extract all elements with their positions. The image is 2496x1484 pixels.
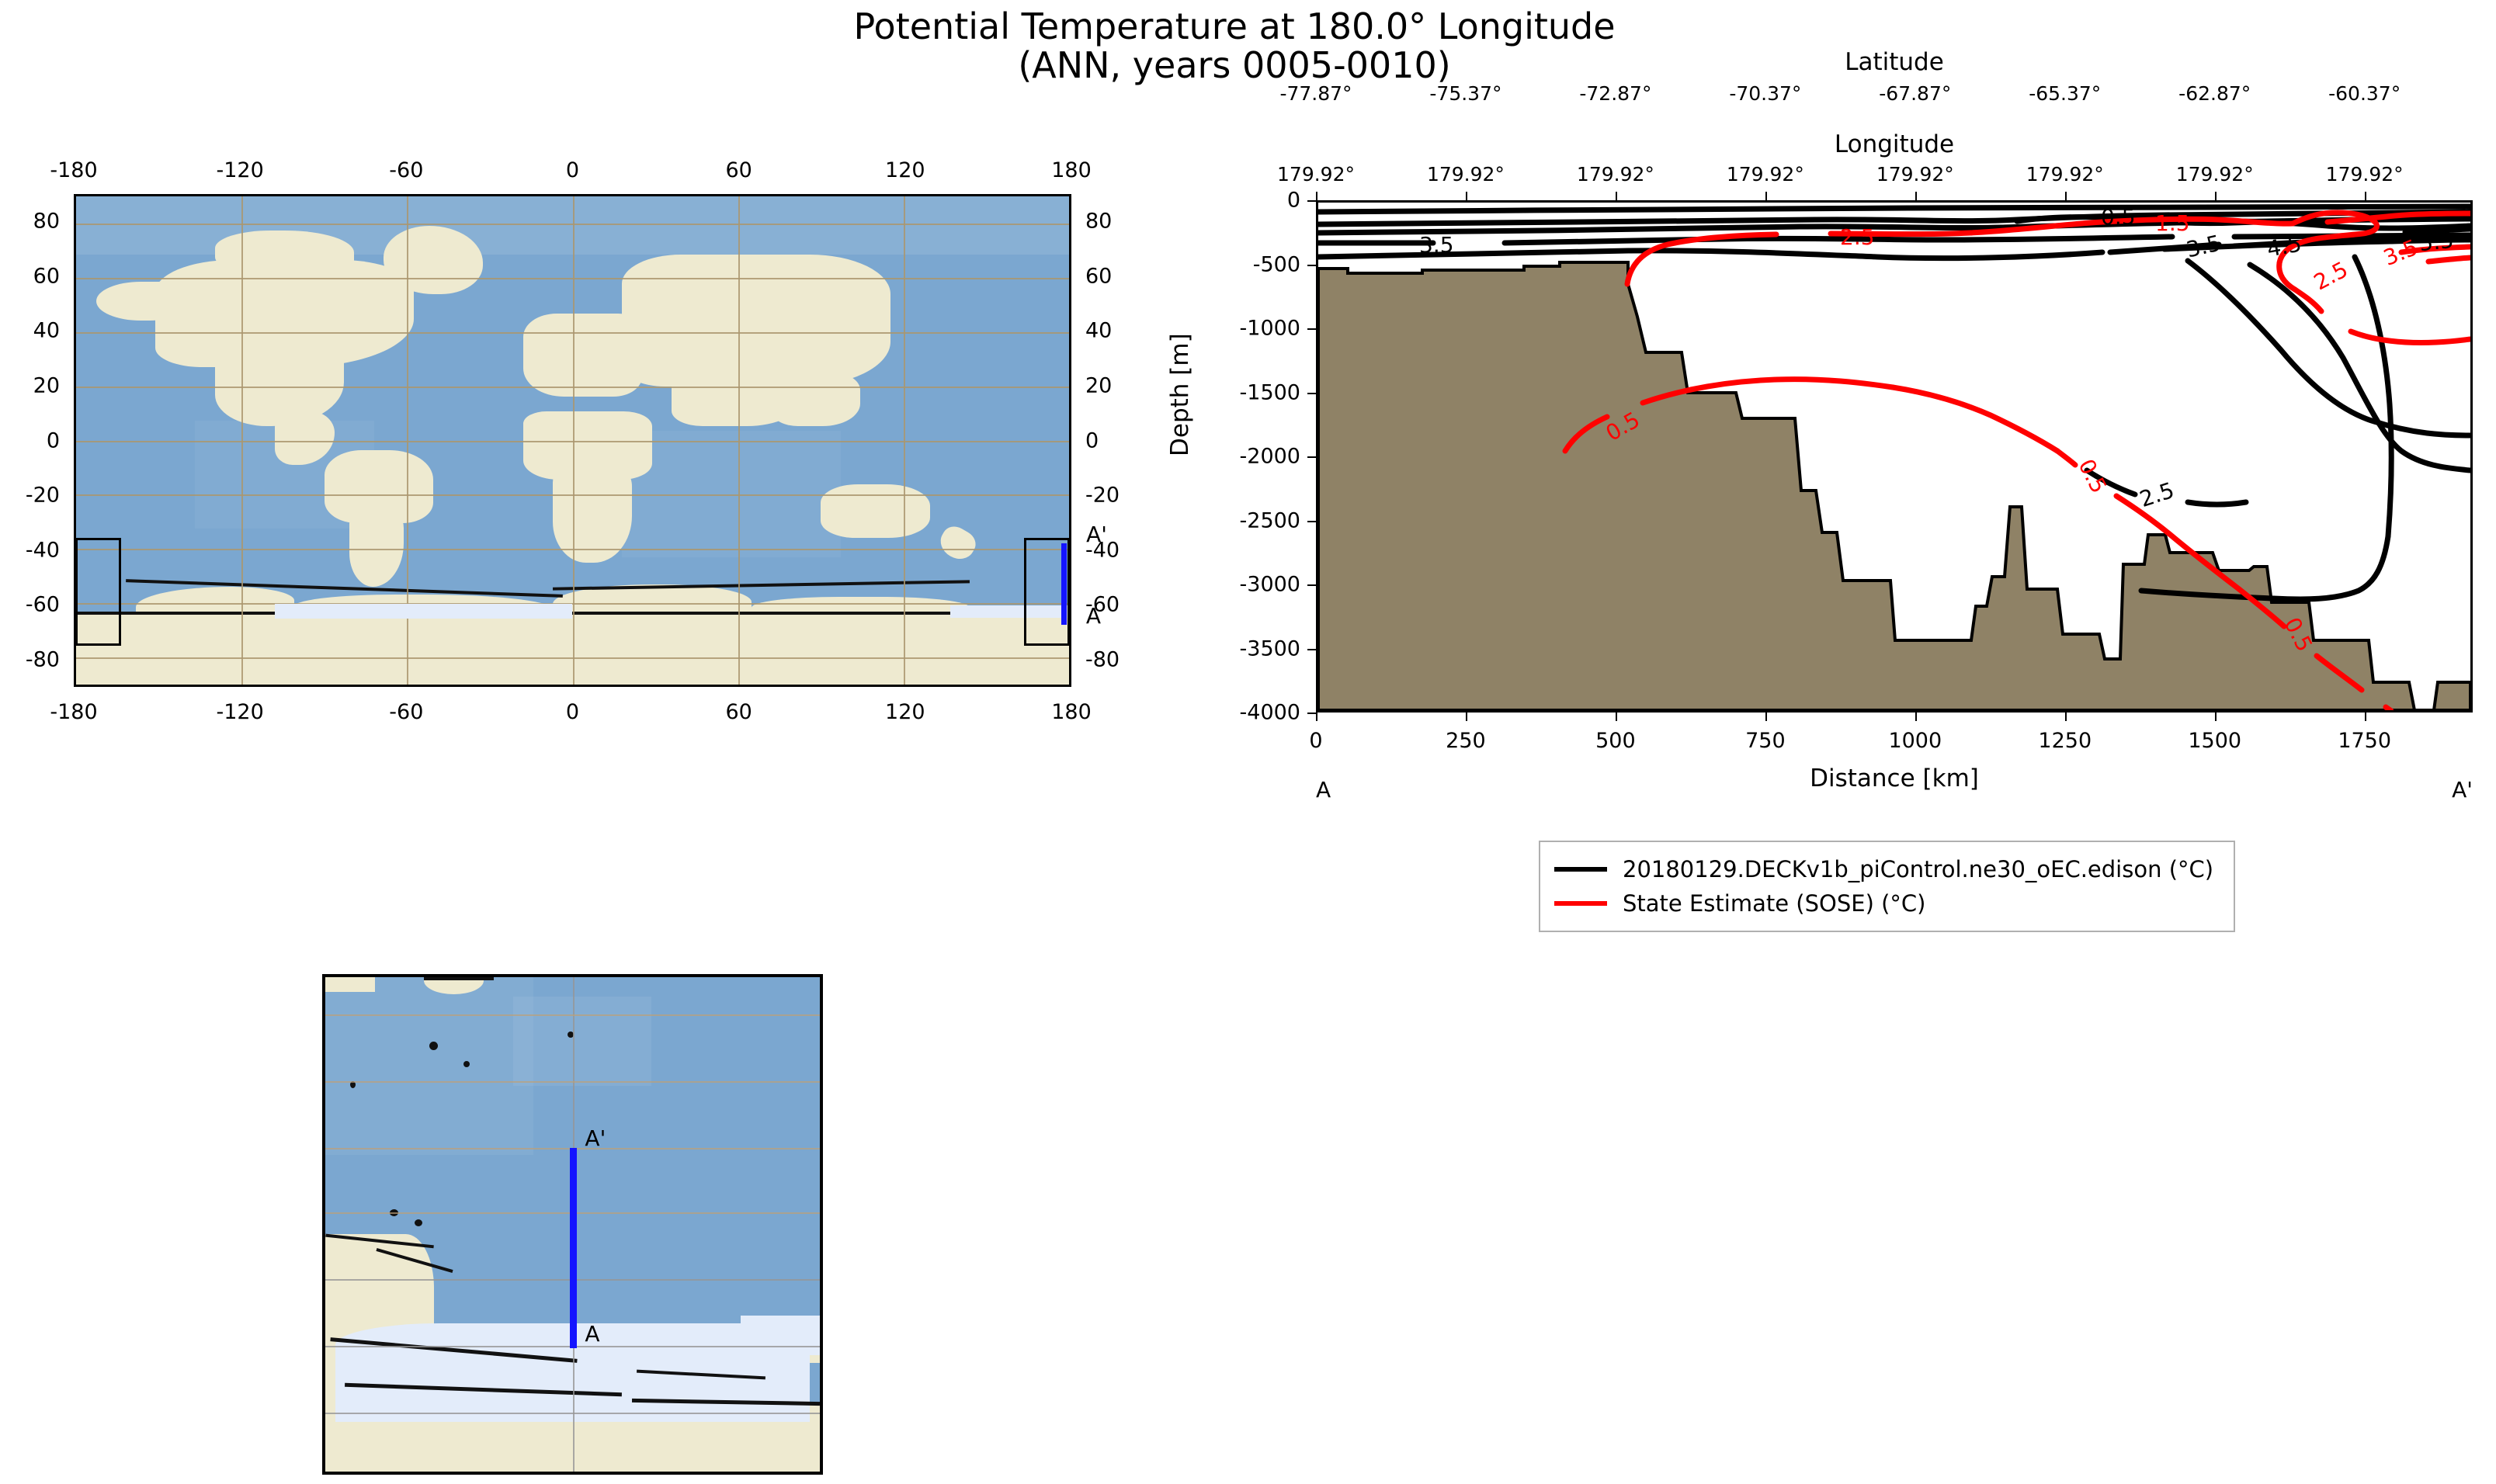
world-map-transect-start-label: A <box>1086 603 1101 629</box>
world-map-xtick-bottom: -60 <box>389 700 423 724</box>
legend-label-model: 20180129.DECKv1b_piControl.ne30_oEC.edis… <box>1623 856 2213 882</box>
title-line-1: Potential Temperature at 180.0° Longitud… <box>745 8 1724 47</box>
landmass-new-zealand <box>935 522 980 564</box>
depth-tick: -2500 <box>1240 508 1300 532</box>
landmass-alaska <box>96 282 186 321</box>
longitude-tick: 179.92° <box>2326 163 2404 185</box>
world-map-xtick-bottom: 120 <box>885 700 925 724</box>
distance-tick: 0 <box>1309 729 1322 753</box>
latitude-tick: -70.37° <box>1729 82 1801 105</box>
distance-tick: 750 <box>1745 729 1786 753</box>
landmass-australia <box>821 484 930 538</box>
world-map-xtick-top: 60 <box>725 158 752 182</box>
cross-section-axes[interactable]: 3.5 2.5 0.5 1.5 3.5 4.5 2.5 3.5 5.5 2.5 … <box>1316 200 2473 713</box>
distance-tick: 250 <box>1446 729 1486 753</box>
world-map-ytick-right: 20 <box>1085 373 1112 397</box>
inset-island <box>415 1219 422 1226</box>
transect-line <box>1061 543 1067 625</box>
world-map-panel: -180 -120 -60 0 60 120 180 -180 -120 -60… <box>74 194 1071 687</box>
latitude-tick: -75.37° <box>1429 82 1501 105</box>
world-map-xtick-top: 0 <box>566 158 579 182</box>
landmass-southeast-asia <box>771 372 860 425</box>
longitude-tick: 179.92° <box>2026 163 2104 185</box>
world-map-ytick-left: -60 <box>26 593 60 617</box>
world-map-xtick-top: 120 <box>885 158 925 182</box>
legend-entry-model: 20180129.DECKv1b_piControl.ne30_oEC.edis… <box>1554 852 2213 886</box>
world-map-xtick-bottom: 60 <box>725 700 752 724</box>
world-map-ytick-left: -20 <box>26 484 60 508</box>
longitude-tick: 179.92° <box>1727 163 1804 185</box>
world-map-xtick-top: 180 <box>1051 158 1092 182</box>
longitude-tick: 179.92° <box>1876 163 1954 185</box>
legend-swatch-obs <box>1554 901 1607 906</box>
distance-tick: 1000 <box>1888 729 1942 753</box>
figure-root: Potential Temperature at 180.0° Longitud… <box>0 0 2496 1484</box>
world-map-ytick-left: 80 <box>33 210 60 234</box>
landmass-antarctica <box>752 597 970 624</box>
world-map-xtick-top: -120 <box>217 158 264 182</box>
contour-legend: 20180129.DECKv1b_piControl.ne30_oEC.edis… <box>1539 841 2235 932</box>
depth-axis-label: Depth [m] <box>1166 333 1194 456</box>
longitude-tick: 179.92° <box>1577 163 1654 185</box>
depth-tick: -4000 <box>1240 701 1300 725</box>
world-map-transect-end-label: A' <box>1086 522 1107 547</box>
world-map-xtick-bottom: -180 <box>50 700 97 724</box>
longitude-axis-label: Longitude <box>1316 130 2473 158</box>
landmass-africa <box>553 465 632 563</box>
world-map-ytick-left: 20 <box>33 373 60 397</box>
cross-section-panel: 3.5 2.5 0.5 1.5 3.5 4.5 2.5 3.5 5.5 2.5 … <box>1316 200 2473 713</box>
longitude-tick: 179.92° <box>1277 163 1355 185</box>
distance-tick: 1500 <box>2188 729 2241 753</box>
latitude-tick: -67.87° <box>1879 82 1951 105</box>
depth-tick: -1000 <box>1240 317 1300 341</box>
world-map-ytick-right: 80 <box>1085 210 1112 234</box>
depth-tick: -2000 <box>1240 445 1300 469</box>
transect-region-box-west <box>75 538 121 645</box>
distance-axis-label: Distance [km] <box>1316 765 2473 792</box>
latitude-tick: -60.37° <box>2328 82 2401 105</box>
world-map-ytick-left: -40 <box>26 538 60 562</box>
world-map-ytick-right: -80 <box>1085 647 1120 671</box>
world-map-ytick-right: 60 <box>1085 264 1112 288</box>
inset-map-panel: A' A <box>322 974 823 1475</box>
depth-tick: -3000 <box>1240 573 1300 597</box>
world-map-xtick-bottom: 180 <box>1051 700 1092 724</box>
ice-shelf <box>275 604 573 619</box>
world-map-ytick-left: 60 <box>33 264 60 288</box>
landmass-canadian-arctic <box>215 231 354 275</box>
depth-tick: -1500 <box>1240 380 1300 404</box>
inset-map-axes[interactable]: A' A <box>322 974 823 1475</box>
latitude-tick: -65.37° <box>2029 82 2101 105</box>
distance-tick: 500 <box>1595 729 1636 753</box>
landmass-south-america <box>349 509 404 588</box>
legend-entry-obs: State Estimate (SOSE) (°C) <box>1554 886 2213 921</box>
inset-transect-end-label: A' <box>585 1125 606 1151</box>
distance-tick: 1750 <box>2338 729 2391 753</box>
latitude-tick: -72.87° <box>1579 82 1651 105</box>
world-map-xtick-bottom: -120 <box>217 700 264 724</box>
longitude-tick: 179.92° <box>2176 163 2254 185</box>
world-map-ytick-left: 40 <box>33 319 60 343</box>
contour-label: 2.5 <box>1840 224 1875 250</box>
latitude-tick: -62.87° <box>2178 82 2251 105</box>
contour-label: 5.5 <box>2418 227 2455 256</box>
contour-label: 0.5 <box>2101 204 2136 230</box>
world-map-ytick-right: 40 <box>1085 319 1112 343</box>
inset-island <box>429 1042 438 1050</box>
legend-label-obs: State Estimate (SOSE) (°C) <box>1623 890 1925 917</box>
world-map-ytick-right: -20 <box>1085 484 1120 508</box>
latitude-axis-label: Latitude <box>1316 48 2473 76</box>
inset-transect-start-label: A <box>585 1321 599 1347</box>
world-map-xtick-bottom: 0 <box>566 700 579 724</box>
inset-transect-line <box>570 1148 577 1348</box>
world-map-xtick-top: -180 <box>50 158 97 182</box>
longitude-tick: 179.92° <box>1427 163 1505 185</box>
distance-tick: 1250 <box>2038 729 2092 753</box>
depth-tick: -3500 <box>1240 636 1300 661</box>
contour-label: 3.5 <box>1419 232 1454 258</box>
inset-ice-shelf <box>741 1316 820 1355</box>
world-map-ytick-right: 0 <box>1085 428 1099 452</box>
depth-tick: 0 <box>1287 189 1300 213</box>
latitude-tick: -77.87° <box>1279 82 1352 105</box>
world-map-ytick-left: 0 <box>47 428 60 452</box>
inset-coastline <box>424 977 493 980</box>
world-map-xtick-top: -60 <box>389 158 423 182</box>
world-map-ytick-left: -80 <box>26 647 60 671</box>
inset-landmass <box>325 977 375 992</box>
legend-swatch-model <box>1554 867 1607 872</box>
depth-tick: -500 <box>1253 252 1300 276</box>
world-map-axes[interactable] <box>74 194 1071 687</box>
contour-label: 1.5 <box>2155 210 2190 236</box>
